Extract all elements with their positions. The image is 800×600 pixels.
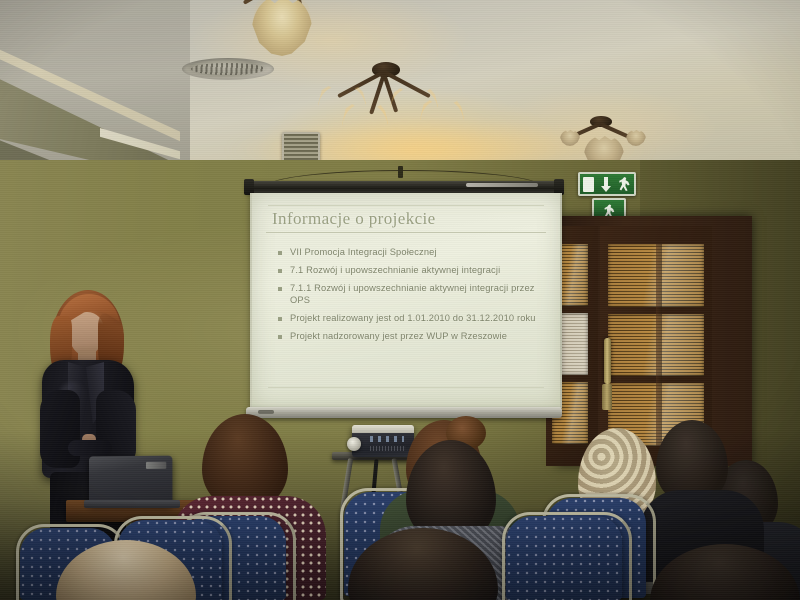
- screen-surface: Informacje o projekcie VII Promocja Inte…: [250, 193, 562, 408]
- slide-bullet: VII Promocja Integracji Społecznej: [278, 247, 542, 259]
- audience-member-foreground-right: [640, 544, 800, 600]
- chandelier-lit-shade: [420, 100, 464, 142]
- exit-door-icon: [583, 177, 594, 192]
- projection-screen: Informacje o projekcie VII Promocja Inte…: [246, 178, 562, 430]
- projector-lens: [347, 437, 361, 451]
- chandelier-center: [318, 62, 488, 152]
- screen-top-housing: [246, 181, 562, 193]
- slide-bullet: Projekt nadzorowany jest przez WUP w Rze…: [278, 331, 542, 343]
- chandelier-shade: [252, 0, 312, 56]
- chandelier-shade: [560, 130, 580, 146]
- emergency-exit-sign: [578, 172, 636, 196]
- presenter-crossed-arms: [68, 440, 112, 456]
- presentation-room-photo: Informacje o projekcie VII Promocja Inte…: [0, 0, 800, 600]
- slide-title: Informacje o projekcie: [266, 203, 546, 233]
- slide-bullet: Projekt realizowany jest od 1.01.2010 do…: [278, 313, 542, 325]
- audience-head: [348, 528, 498, 600]
- presenter-arm-left: [40, 390, 80, 468]
- laptop-base: [84, 500, 180, 508]
- chair-frame: [502, 512, 632, 600]
- slide-bullet: 7.1 Rozwój i upowszechnianie aktywnej in…: [278, 265, 542, 277]
- running-person-icon: [618, 176, 631, 192]
- slide-bullet-list: VII Promocja Integracji Społecznej 7.1 R…: [266, 247, 546, 343]
- slide-bullet: 7.1.1 Rozwój i upowszechnianie aktywnej …: [278, 283, 542, 306]
- audience-member-foreground-light-hair: [56, 540, 196, 600]
- audience-head: [650, 544, 800, 600]
- screen-hook: [398, 166, 403, 178]
- door-lock-plate[interactable]: [602, 384, 612, 410]
- chandelier-shade: [626, 130, 646, 146]
- audience-member-foreground-dark-hair: [348, 528, 498, 600]
- door-handle[interactable]: [604, 338, 611, 384]
- chandelier-lit-shade: [342, 104, 388, 148]
- slide-top-rule: [268, 205, 544, 206]
- slide-bottom-rule: [268, 387, 544, 388]
- presentation-slide: Informacje o projekcie VII Promocja Inte…: [266, 203, 546, 396]
- audience-head: [56, 540, 196, 600]
- laptop[interactable]: [89, 456, 172, 505]
- door-mullion-vertical: [656, 244, 662, 446]
